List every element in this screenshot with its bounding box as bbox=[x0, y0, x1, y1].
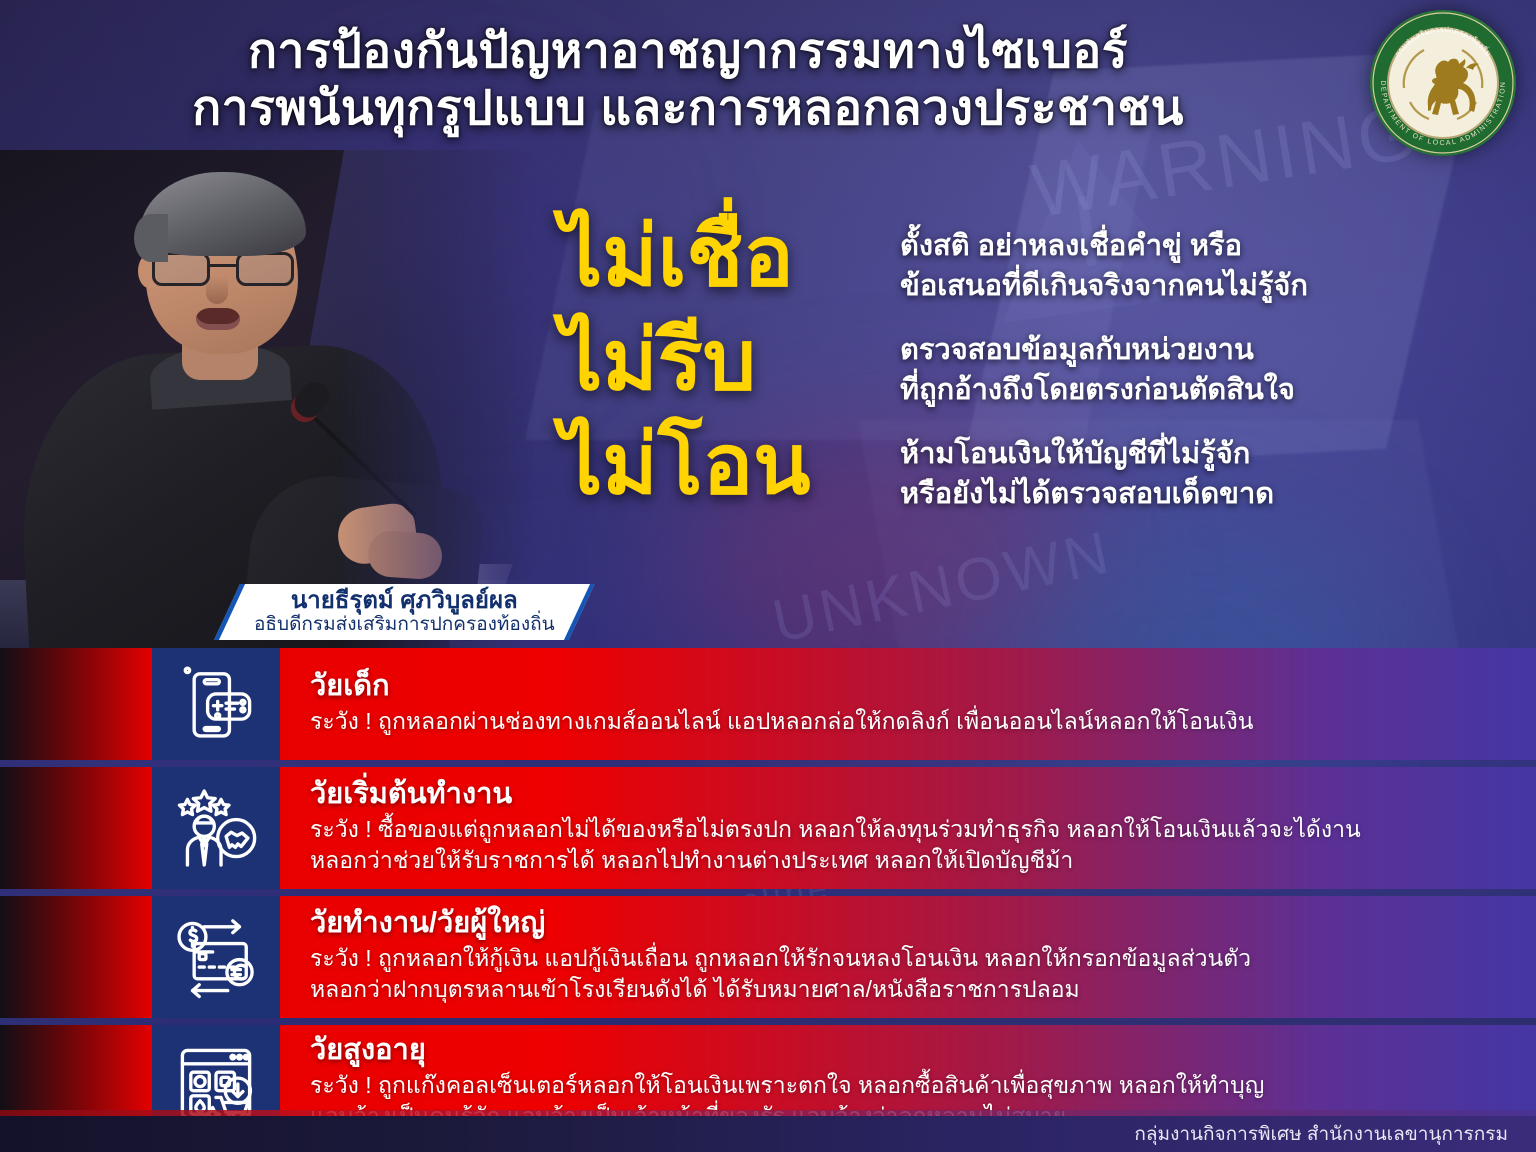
title-line-2: การพนันทุกรูปแบบ และการหลอกลวงประชาชน bbox=[0, 81, 1376, 138]
hero-desc-line: ที่ถูกอ้างถึงโดยตรงก่อนตัดสินใจ bbox=[900, 370, 1520, 410]
card-line-1: ระวัง ! ถูกหลอกผ่านช่องทางเกมส์ออนไลน์ แ… bbox=[310, 706, 1510, 738]
hero-desc-line: ตั้งสติ อย่าหลงเชื่อคำขู่ หรือ bbox=[900, 226, 1520, 266]
hero-desc-line: หรือยังไม่ได้ตรวจสอบเด็ดขาด bbox=[900, 474, 1520, 514]
card-rail bbox=[0, 648, 152, 760]
infographic-poster: WARNING UNKNOWN Accept Decline Virus การ… bbox=[0, 0, 1536, 1152]
card-line-1: ระวัง ! ถูกหลอกให้กู้เงิน แอปกู้เงินเถื่… bbox=[310, 943, 1510, 975]
hero-slogan-block: ไม่เชื่อ ตั้งสติ อย่าหลงเชื่อคำขู่ หรือ … bbox=[560, 212, 1520, 524]
card-line-2: หลอกว่าฝากบุตรหลานเข้าโรงเรียนดังได้ ได้… bbox=[310, 974, 1510, 1006]
photo-hand bbox=[366, 529, 443, 580]
hero-description-1: ตั้งสติ อย่าหลงเชื่อคำขู่ หรือ ข้อเสนอที… bbox=[900, 212, 1520, 306]
card-line-1: ระวัง ! ถูกแก๊งคอลเซ็นเตอร์หลอกให้โอนเงิ… bbox=[310, 1070, 1510, 1102]
title-line-1: การป้องกันปัญหาอาชญากรรมทางไซเบอร์ bbox=[0, 24, 1376, 81]
poster-footer: กลุ่มงานกิจการพิเศษ สำนักงานเลขานุการกรม bbox=[0, 1116, 1536, 1152]
card-title: วัยเริ่มต้นทำงาน bbox=[310, 777, 1510, 812]
card-title: วัยทำงาน/วัยผู้ใหญ่ bbox=[310, 906, 1510, 941]
hero-item: ไม่โอน ห้ามโอนเงินให้บัญชีที่ไม่รู้จัก ห… bbox=[560, 420, 1520, 514]
eyeglasses-icon bbox=[150, 252, 296, 286]
card-line-2: หลอกว่าช่วยให้รับราชการได้ หลอกไปทำงานต่… bbox=[310, 845, 1510, 877]
card-line-1: ระวัง ! ซื้อของแต่ถูกหลอกไม่ได้ของหรือไม… bbox=[310, 814, 1510, 846]
hero-item: ไม่เชื่อ ตั้งสติ อย่าหลงเชื่อคำขู่ หรือ … bbox=[560, 212, 1520, 306]
hero-keyword-1: ไม่เชื่อ bbox=[560, 212, 900, 301]
card-rail bbox=[0, 767, 152, 889]
department-of-local-administration-emblem: กรมส่งเสริมการปกครองท้องถิ่น DEPARTMENT … bbox=[1370, 10, 1516, 156]
age-group-card: วัยเริ่มต้นทำงาน ระวัง ! ซื้อของแต่ถูกหล… bbox=[0, 767, 1536, 889]
speaker-role: อธิบดีกรมส่งเสริมการปกครองท้องถิ่น bbox=[254, 614, 555, 636]
hero-description-3: ห้ามโอนเงินให้บัญชีที่ไม่รู้จัก หรือยังไ… bbox=[900, 420, 1520, 514]
money-exchange-card-icon bbox=[174, 915, 258, 999]
hero-keyword-2: ไม่รีบ bbox=[560, 316, 900, 405]
age-group-card: วัยเด็ก ระวัง ! ถูกหลอกผ่านช่องทางเกมส์อ… bbox=[0, 648, 1536, 760]
hero-desc-line: ข้อเสนอที่ดีเกินจริงจากคนไม่รู้จัก bbox=[900, 266, 1520, 306]
card-content: วัยเด็ก ระวัง ! ถูกหลอกผ่านช่องทางเกมส์อ… bbox=[280, 648, 1536, 760]
poster-header: การป้องกันปัญหาอาชญากรรมทางไซเบอร์ การพน… bbox=[0, 0, 1536, 160]
hero-desc-line: ตรวจสอบข้อมูลกับหน่วยงาน bbox=[900, 330, 1520, 370]
card-title: วัยเด็ก bbox=[310, 669, 1510, 704]
age-group-card-list: วัยเด็ก ระวัง ! ถูกหลอกผ่านช่องทางเกมส์อ… bbox=[0, 648, 1536, 1150]
speaker-name: นายธีรุตม์ ศุภวิบูลย์ผล bbox=[291, 588, 518, 614]
photo-mouth bbox=[196, 308, 240, 330]
hero-item: ไม่รีบ ตรวจสอบข้อมูลกับหน่วยงาน ที่ถูกอ้… bbox=[560, 316, 1520, 410]
hero-description-2: ตรวจสอบข้อมูลกับหน่วยงาน ที่ถูกอ้างถึงโด… bbox=[900, 316, 1520, 410]
card-icon-box bbox=[152, 767, 280, 889]
card-rail bbox=[0, 896, 152, 1018]
hero-desc-line: ห้ามโอนเงินให้บัญชีที่ไม่รู้จัก bbox=[900, 434, 1520, 474]
businessman-stars-handshake-icon bbox=[174, 786, 258, 870]
card-content: วัยทำงาน/วัยผู้ใหญ่ ระวัง ! ถูกหลอกให้กู… bbox=[280, 896, 1536, 1018]
emblem-svg: กรมส่งเสริมการปกครองท้องถิ่น DEPARTMENT … bbox=[1370, 10, 1516, 156]
footer-credit: กลุ่มงานกิจการพิเศษ สำนักงานเลขานุการกรม bbox=[1134, 1119, 1508, 1149]
card-title: วัยสูงอายุ bbox=[310, 1033, 1510, 1068]
age-group-card: วัยทำงาน/วัยผู้ใหญ่ ระวัง ! ถูกหลอกให้กู… bbox=[0, 896, 1536, 1018]
page-title: การป้องกันปัญหาอาชญากรรมทางไซเบอร์ การพน… bbox=[0, 24, 1536, 137]
card-icon-box bbox=[152, 648, 280, 760]
card-content: วัยเริ่มต้นทำงาน ระวัง ! ซื้อของแต่ถูกหล… bbox=[280, 767, 1536, 889]
phone-gamepad-icon bbox=[174, 662, 258, 746]
card-icon-box bbox=[152, 896, 280, 1018]
speaker-nameplate: นายธีรุตม์ ศุภวิบูลย์ผล อธิบดีกรมส่งเสริ… bbox=[214, 584, 595, 640]
hero-keyword-3: ไม่โอน bbox=[560, 420, 900, 509]
speaker-photo bbox=[0, 150, 540, 650]
